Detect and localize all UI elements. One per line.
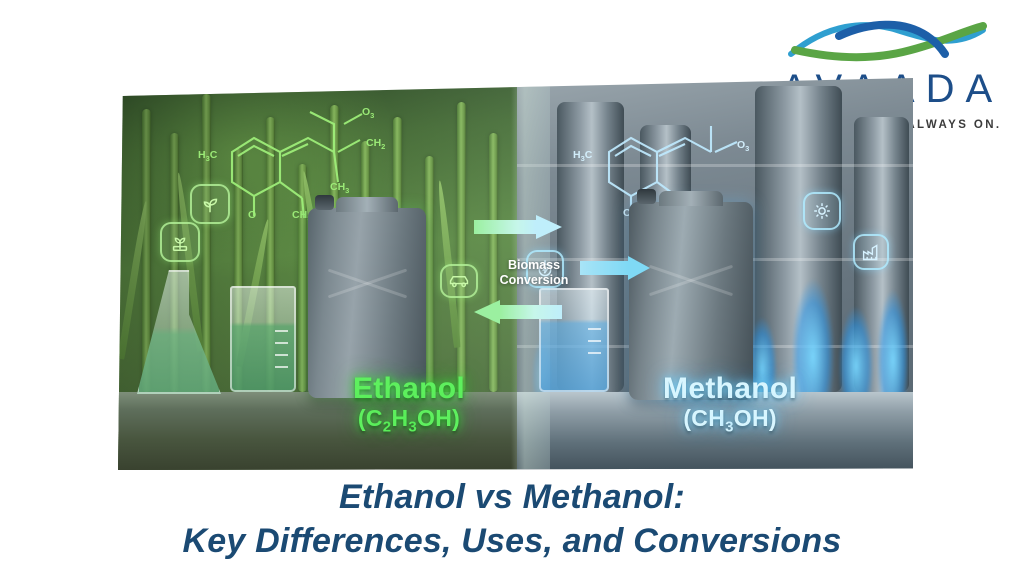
jerry-can-methanol [629,202,753,400]
hero-banner-image: H3C O3 CH2 CH3 CH2 O [118,78,913,470]
biomass-conversion-label: Biomass Conversion [480,258,588,288]
page-title: Ethanol vs Methanol: Key Differences, Us… [0,476,1024,563]
logo-swoosh-icon [787,14,987,66]
ethanol-name: Ethanol [314,374,504,404]
biomass-line1: Biomass [508,258,560,272]
beaker-ethanol [230,286,296,392]
arrow-right-biomass [474,215,562,239]
ethanol-label: Ethanol (C2H3OH) [314,374,504,437]
biomass-line2: Conversion [500,273,569,287]
arrow-right-methanol [580,256,650,280]
ethanol-formula: (C2H3OH) [314,404,504,437]
title-line-2: Key Differences, Uses, and Conversions [0,520,1024,564]
arrow-left-biomass [474,300,562,324]
erlenmeyer-flask [137,270,221,394]
jerry-can-ethanol [308,208,426,398]
title-line-1: Ethanol vs Methanol: [339,478,685,516]
